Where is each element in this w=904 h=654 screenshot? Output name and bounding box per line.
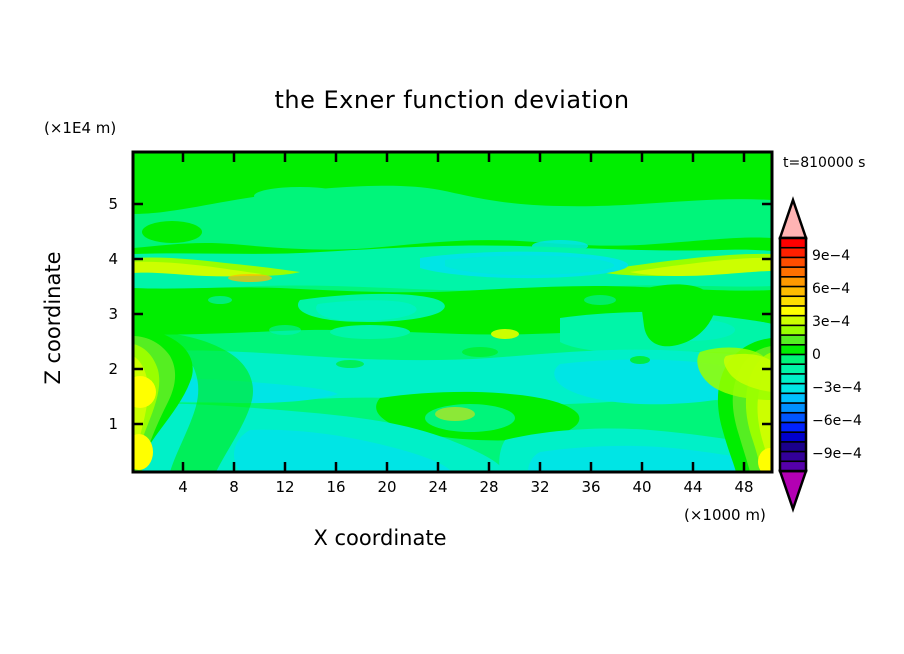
colorbar-tick-label: 9e−4 (812, 248, 850, 264)
colorbar-bands (780, 238, 806, 471)
colorbar-tick-label: −6e−4 (812, 413, 862, 429)
colorbar-band (780, 403, 806, 413)
colorbar-band (780, 364, 806, 374)
contour-plot (0, 0, 904, 654)
colorbar[interactable] (780, 200, 806, 509)
y-tick-label: 2 (96, 360, 118, 378)
x-tick-label: 8 (214, 478, 254, 496)
colorbar-band (780, 277, 806, 287)
x-tick-label: 40 (622, 478, 662, 496)
colorbar-band (780, 452, 806, 462)
x-tick-label: 28 (469, 478, 509, 496)
y-tick-label: 1 (96, 415, 118, 433)
x-tick-label: 20 (367, 478, 407, 496)
colorbar-band (780, 422, 806, 432)
colorbar-band (780, 316, 806, 326)
x-tick-label: 4 (163, 478, 203, 496)
colorbar-band (780, 257, 806, 267)
y-tick-label: 3 (96, 305, 118, 323)
colorbar-band (780, 238, 806, 248)
colorbar-band (780, 248, 806, 258)
colorbar-cap-bottom (780, 471, 806, 509)
figure-canvas: the Exner function deviation (×1E4 m) t=… (0, 0, 904, 654)
y-tick-label: 4 (96, 250, 118, 268)
colorbar-band (780, 393, 806, 403)
colorbar-band (780, 296, 806, 306)
colorbar-tick-label: 0 (812, 347, 821, 363)
colorbar-band (780, 355, 806, 365)
contour-field (124, 152, 782, 476)
colorbar-band (780, 325, 806, 335)
x-tick-label: 12 (265, 478, 305, 496)
colorbar-cap-top (780, 200, 806, 238)
colorbar-band (780, 374, 806, 384)
colorbar-tick-label: 3e−4 (812, 314, 850, 330)
x-tick-label: 36 (571, 478, 611, 496)
colorbar-band (780, 432, 806, 442)
colorbar-band (780, 345, 806, 355)
colorbar-band (780, 442, 806, 452)
colorbar-tick-label: 6e−4 (812, 281, 850, 297)
colorbar-band (780, 335, 806, 345)
colorbar-band (780, 267, 806, 277)
x-tick-label: 32 (520, 478, 560, 496)
colorbar-band (780, 413, 806, 423)
colorbar-tick-label: −9e−4 (812, 446, 862, 462)
colorbar-band (780, 384, 806, 394)
x-tick-label: 24 (418, 478, 458, 496)
x-tick-label: 48 (724, 478, 764, 496)
y-tick-label: 5 (96, 195, 118, 213)
colorbar-band (780, 287, 806, 297)
colorbar-band (780, 306, 806, 316)
x-tick-label: 44 (673, 478, 713, 496)
colorbar-tick-label: −3e−4 (812, 380, 862, 396)
x-tick-label: 16 (316, 478, 356, 496)
